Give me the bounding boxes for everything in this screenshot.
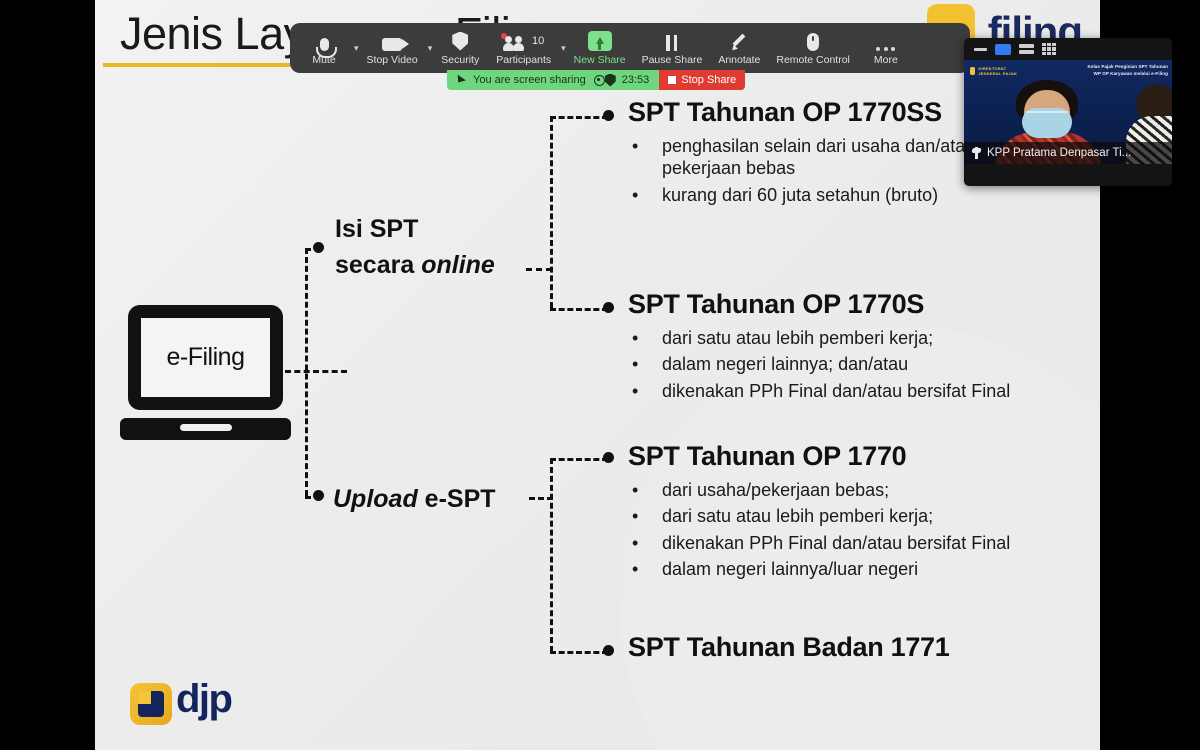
list-item-text: kurang dari 60 juta setahun (bruto) [662,184,938,207]
bullet-glyph: • [628,380,662,403]
node-dot-1770ss [603,110,614,121]
group-bullet-list: • dari usaha/pekerjaan bebas; • dari sat… [628,479,1010,581]
node-dot-1770s [603,302,614,313]
node-dot-branch-bottom [313,490,324,501]
laptop-screen: e-Filing [141,318,270,397]
participant-nameplate: KPP Pratama Denpasar Ti... [964,142,1172,164]
laptop-icon: e-Filing [120,305,295,450]
toolbar-group-audio: Mute ▾ [296,25,359,71]
djp-logo-cut [138,691,151,704]
bullet-glyph: • [628,353,662,376]
connector-laptop-trunk [285,370,347,373]
participants-icon: 10 [503,31,544,51]
stop-video-button-label: Stop Video [367,54,418,66]
node-dot-1771 [603,645,614,656]
djp-logo-text: djp [176,677,231,722]
list-item: • dalam negeri lainnya; dan/atau [628,353,1010,376]
camera-icon [382,31,402,51]
zoom-meeting-toolbar: Mute ▾ Stop Video ▾ Security [290,23,970,73]
shield-icon [452,31,468,51]
ellipsis-icon [876,31,895,51]
node-dot-branch-top [313,242,324,253]
group-bullet-list: • dari satu atau lebih pemberi kerja; • … [628,327,1010,403]
speaker-view-icon[interactable] [995,44,1011,55]
gallery-view-icon[interactable] [1042,43,1056,56]
list-item-text: dalam negeri lainnya; dan/atau [662,353,908,376]
branch-label-online-line1: Isi SPT [335,215,418,243]
connector-to-1770ss [550,116,608,119]
list-item: • dari satu atau lebih pemberi kerja; [628,327,1010,350]
participants-button[interactable]: 10 Participants [488,25,559,71]
list-item-text: dari satu atau lebih pemberi kerja; [662,505,933,528]
spine-online [550,116,553,308]
list-item-text: dikenakan PPh Final dan/atau bersifat Fi… [662,532,1010,555]
group-1770: SPT Tahunan OP 1770 • dari usaha/pekerja… [628,442,1010,585]
list-item: • dari usaha/pekerjaan bebas; [628,479,1010,502]
video-panel-controls [964,38,1172,60]
stop-share-button-label: Stop Share [681,74,736,86]
record-indicator-icon[interactable] [594,75,605,86]
share-timer: 23:53 [622,74,650,86]
bullet-glyph: • [628,327,662,350]
branch-label-online-line2a: secara [335,251,421,279]
list-item: • dikenakan PPh Final dan/atau bersifat … [628,532,1010,555]
group-heading: SPT Tahunan OP 1770 [628,442,1010,472]
pause-share-button-label: Pause Share [642,54,703,66]
share-screen-icon [588,31,612,51]
stop-video-button[interactable]: Stop Video [359,25,426,71]
connector-online-spine [526,268,552,271]
list-item: • dikenakan PPh Final dan/atau bersifat … [628,380,1010,403]
branch-label-online-line2b: online [421,251,495,279]
list-item: • kurang dari 60 juta setahun (bruto) [628,184,1022,207]
shield-status-icon[interactable] [605,74,616,87]
video-thumbnail-panel[interactable]: DIREKTORAT JENDERAL PAJAK Kelas Pajak Pe… [964,38,1172,186]
microphone-icon [320,31,329,51]
toolbar-group-participants: 10 Participants ▾ [488,25,565,71]
group-bullet-list: • penghasilan selain dari usaha dan/atau… [628,135,1022,207]
security-button-label: Security [441,54,479,66]
minimize-icon[interactable] [974,48,987,51]
connector-trunk-vertical [305,248,308,496]
sharing-status-text: You are screen sharing [473,74,586,86]
laptop-trackpad [180,424,232,431]
bullet-glyph: • [628,532,662,555]
pause-icon [666,31,677,51]
annotate-button-label: Annotate [718,54,760,66]
group-1770ss: SPT Tahunan OP 1770SS • penghasilan sela… [628,98,1022,210]
video-overlay-banner-line1: Kelas Pajak Pengisian SPT Tahunan [1088,64,1169,69]
remote-control-button-label: Remote Control [776,54,850,66]
participants-count: 10 [532,35,544,47]
screen-sharing-status-bar: You are screen sharing 23:53 Stop Share [447,70,745,90]
participant-name: KPP Pratama Denpasar Ti... [987,147,1131,159]
split-view-icon[interactable] [1019,44,1034,55]
group-heading: SPT Tahunan OP 1770SS [628,98,1022,128]
group-heading: SPT Tahunan OP 1770S [628,290,1010,320]
more-button[interactable]: More [858,25,914,71]
annotate-button[interactable]: Annotate [710,25,768,71]
bullet-glyph: • [628,505,662,528]
stop-square-icon [668,76,676,84]
branch-label-upload-italic: Upload [333,485,418,513]
pencil-icon [730,31,748,51]
pin-icon [972,147,981,159]
list-item-text: dalam negeri lainnya/luar negeri [662,558,918,581]
branch-label-online: Isi SPT secara online [335,212,495,283]
bullet-glyph: • [628,135,662,180]
node-dot-1770 [603,452,614,463]
connector-to-1771 [550,651,608,654]
mute-button[interactable]: Mute [296,25,352,71]
connector-to-1770s [550,308,608,311]
video-overlay-logo: DIREKTORAT JENDERAL PAJAK [970,64,1024,78]
group-1770s: SPT Tahunan OP 1770S • dari satu atau le… [628,290,1010,406]
video-overlay-logo-mark-icon [970,67,975,75]
video-overlay-logo-text: DIREKTORAT JENDERAL PAJAK [978,66,1024,76]
list-item: • dari satu atau lebih pemberi kerja; [628,505,1010,528]
new-share-button-label: New Share [574,54,626,66]
group-1771: SPT Tahunan Badan 1771 [628,633,950,663]
video-feed[interactable]: DIREKTORAT JENDERAL PAJAK Kelas Pajak Pe… [964,60,1172,164]
mouse-icon [807,31,819,51]
screen: Jenis Layanan e-Filing filing e-Filing I… [0,0,1200,750]
list-item: • dalam negeri lainnya/luar negeri [628,558,1010,581]
participant-face-mask [1022,108,1072,138]
group-heading: SPT Tahunan Badan 1771 [628,633,950,663]
branch-label-upload: Upload e-SPT [333,482,496,518]
more-button-label: More [874,54,898,66]
presentation-slide: Jenis Layanan e-Filing filing e-Filing I… [95,0,1100,750]
connector-to-1770 [550,458,608,461]
list-item-text: dikenakan PPh Final dan/atau bersifat Fi… [662,380,1010,403]
toolbar-group-video: Stop Video ▾ [359,25,433,71]
video-overlay-banner-line2: WP OP Karyawan melalui e-Filing [1094,71,1168,76]
bullet-glyph: • [628,558,662,581]
list-item-text: dari satu atau lebih pemberi kerja; [662,327,933,350]
bullet-glyph: • [628,184,662,207]
participants-button-label: Participants [496,54,551,66]
branch-label-upload-plain: e-SPT [418,485,496,513]
pause-share-button[interactable]: Pause Share [634,25,711,71]
security-button[interactable]: Security [432,25,488,71]
remote-control-button[interactable]: Remote Control [768,25,858,71]
list-item-text: dari usaha/pekerjaan bebas; [662,479,889,502]
new-share-button[interactable]: New Share [566,25,634,71]
bullet-glyph: • [628,479,662,502]
video-overlay-banner: Kelas Pajak Pengisian SPT Tahunan WP OP … [1050,64,1168,80]
list-item: • penghasilan selain dari usaha dan/atau… [628,135,1022,180]
djp-logo: djp [130,680,290,728]
stop-share-button[interactable]: Stop Share [659,70,745,90]
spine-upload [550,458,553,652]
laptop-screen-label: e-Filing [167,343,245,372]
share-cursor-icon [454,75,466,86]
